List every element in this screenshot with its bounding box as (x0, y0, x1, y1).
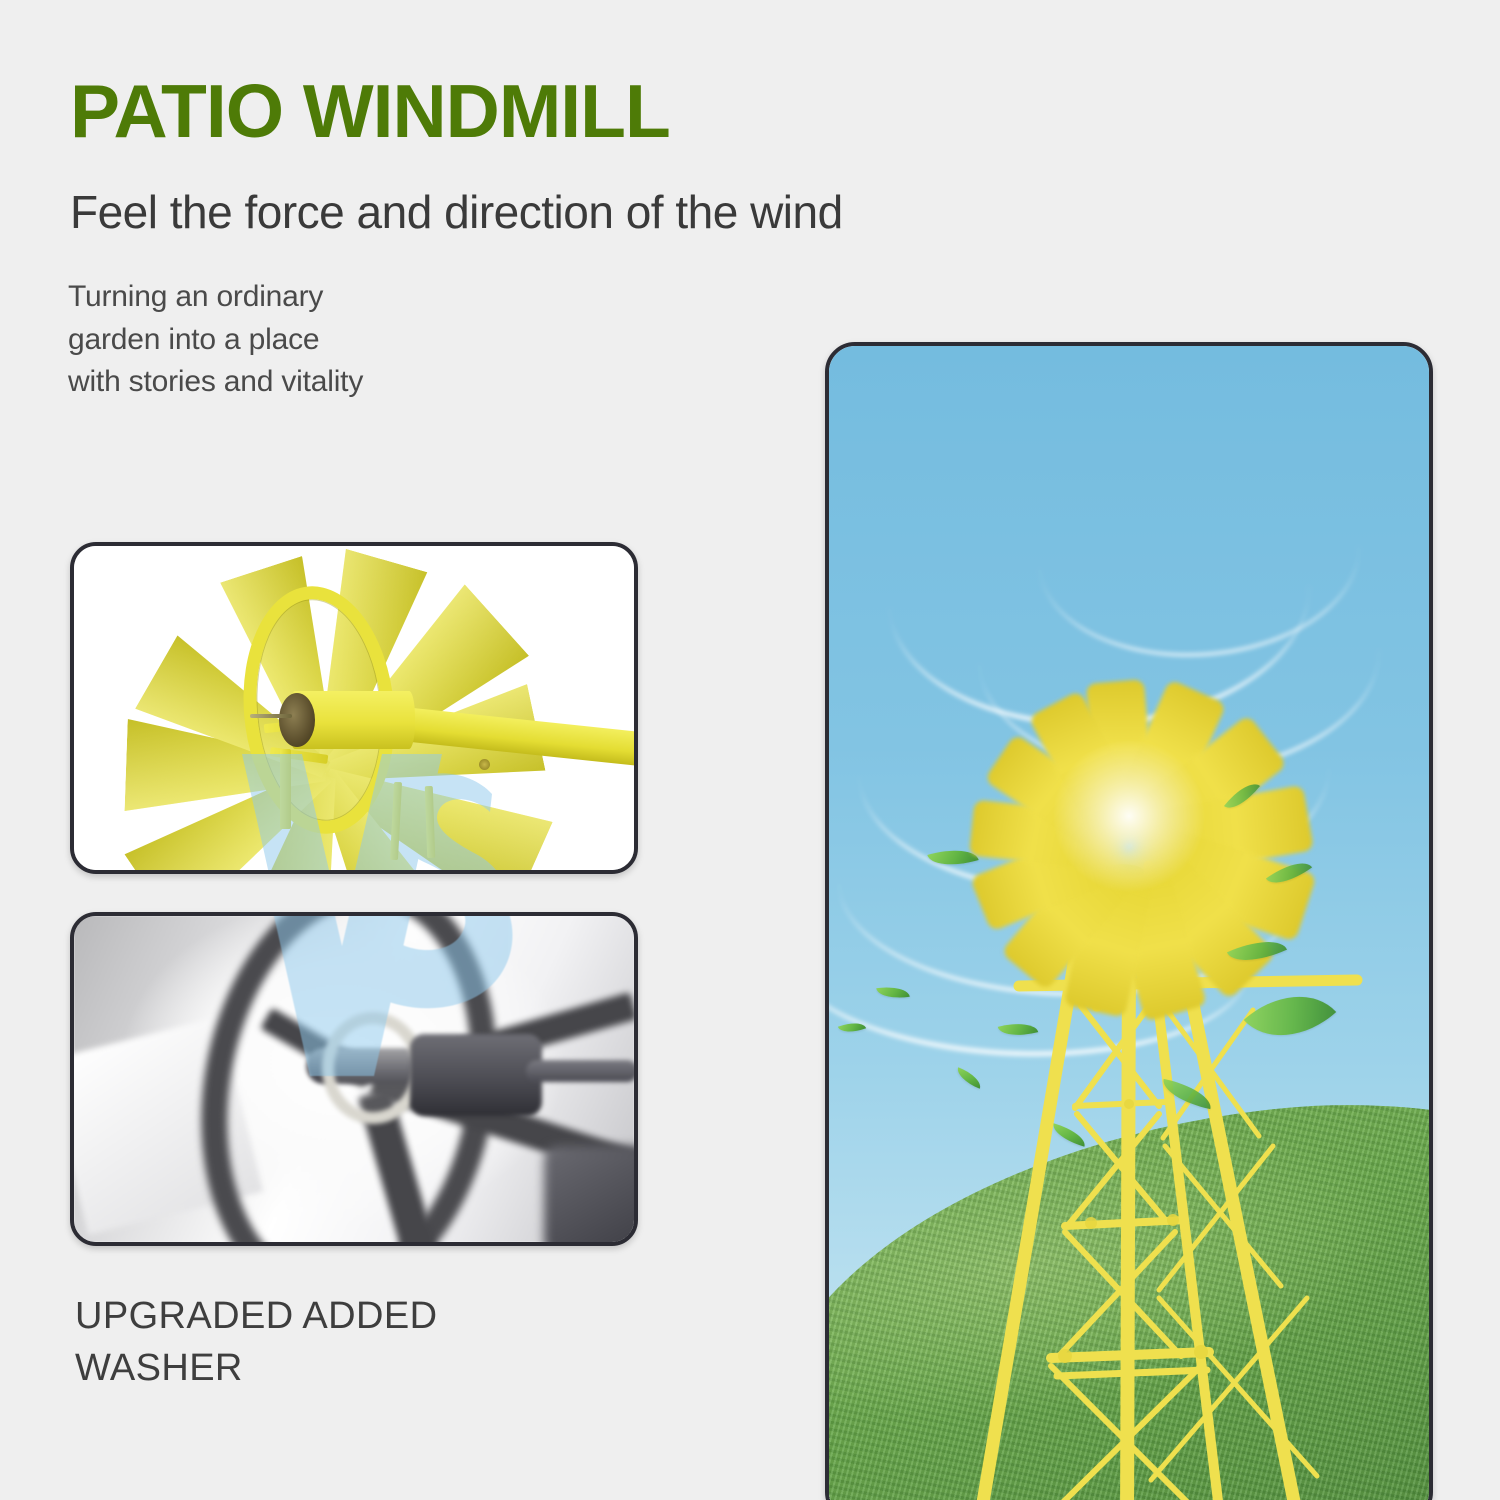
hub-bolt (526, 1060, 638, 1082)
product-infographic: PATIO WINDMILL Feel the force and direct… (0, 0, 1500, 1500)
feature-caption: UPGRADED ADDED WASHER (75, 1290, 437, 1395)
washer-photo-canvas (74, 916, 634, 1242)
blurb-line-1: Turning an ordinary (68, 276, 363, 319)
upgraded-washer (322, 1012, 424, 1124)
hub-strut (280, 749, 291, 829)
background-hardware (544, 1146, 638, 1246)
lifestyle-scene-photo-card (825, 342, 1433, 1500)
page-title: PATIO WINDMILL (70, 74, 670, 149)
caption-line-1: UPGRADED ADDED (75, 1290, 437, 1342)
rotor-highlight (1051, 740, 1207, 892)
hub-photo-canvas (74, 546, 634, 870)
blurb-line-2: garden into a place (68, 319, 363, 362)
arm-bolt (479, 759, 490, 770)
hub-cylinder (410, 1034, 542, 1116)
blurb-line-3: with stories and vitality (68, 361, 363, 404)
blurb-paragraph: Turning an ordinary garden into a place … (68, 276, 363, 404)
caption-line-2: WASHER (75, 1342, 437, 1394)
windmill-hub-bearing-cap (279, 693, 315, 747)
page-subtitle: Feel the force and direction of the wind (70, 186, 843, 239)
washer-detail-photo-card (70, 912, 638, 1246)
hub-detail-photo-card (70, 542, 638, 874)
windmill-axle-pin (250, 714, 292, 718)
